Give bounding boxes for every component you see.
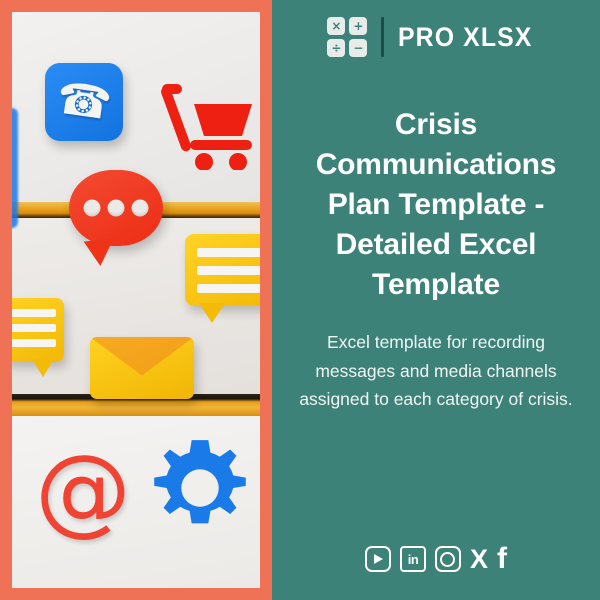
brand-lockup[interactable]: × + ÷ − PRO XLSX xyxy=(327,17,544,57)
linkedin-icon[interactable]: in xyxy=(400,546,426,572)
shopping-cart-icon xyxy=(160,78,256,170)
phone-glyph: ☎ xyxy=(54,76,114,127)
social-links: in X f xyxy=(272,546,600,572)
icon-collage-photo: ☎ xyxy=(12,12,260,588)
brand-divider xyxy=(381,17,384,57)
plus-tile: + xyxy=(349,17,367,35)
product-image-panel: ☎ xyxy=(0,0,272,600)
chat-bubble-icon xyxy=(69,170,163,246)
message-lines-secondary xyxy=(12,309,56,347)
message-list-icon-secondary xyxy=(12,298,64,362)
message-lines xyxy=(197,248,260,293)
product-info-panel: × + ÷ − PRO XLSX Crisis Communications P… xyxy=(272,0,600,600)
brand-name: PRO XLSX xyxy=(398,22,532,53)
linkedin-label: in xyxy=(408,553,419,566)
x-twitter-icon[interactable]: X xyxy=(470,546,488,572)
facebook-icon[interactable]: f xyxy=(497,546,507,572)
phone-icon: ☎ xyxy=(45,63,123,141)
calculator-grid-icon: × + ÷ − xyxy=(327,17,367,57)
gear-icon xyxy=(148,436,252,540)
product-description: Excel template for recording messages an… xyxy=(272,328,600,413)
multiply-tile: × xyxy=(327,17,345,35)
instagram-ring xyxy=(440,552,455,567)
youtube-icon[interactable] xyxy=(365,546,391,572)
play-triangle xyxy=(374,554,383,564)
at-sign-icon: @ xyxy=(35,447,121,533)
product-promo-card: ☎ xyxy=(0,0,600,600)
page-title: Crisis Communications Plan Template - De… xyxy=(272,105,600,304)
envelope-icon xyxy=(90,337,194,399)
envelope-flap xyxy=(90,337,194,399)
instagram-icon[interactable] xyxy=(435,546,461,572)
minus-tile: − xyxy=(349,39,367,57)
message-list-icon xyxy=(185,234,260,306)
chat-bubble-dots xyxy=(84,200,149,217)
photo-blue-edge-accent xyxy=(12,108,18,228)
divide-tile: ÷ xyxy=(327,39,345,57)
